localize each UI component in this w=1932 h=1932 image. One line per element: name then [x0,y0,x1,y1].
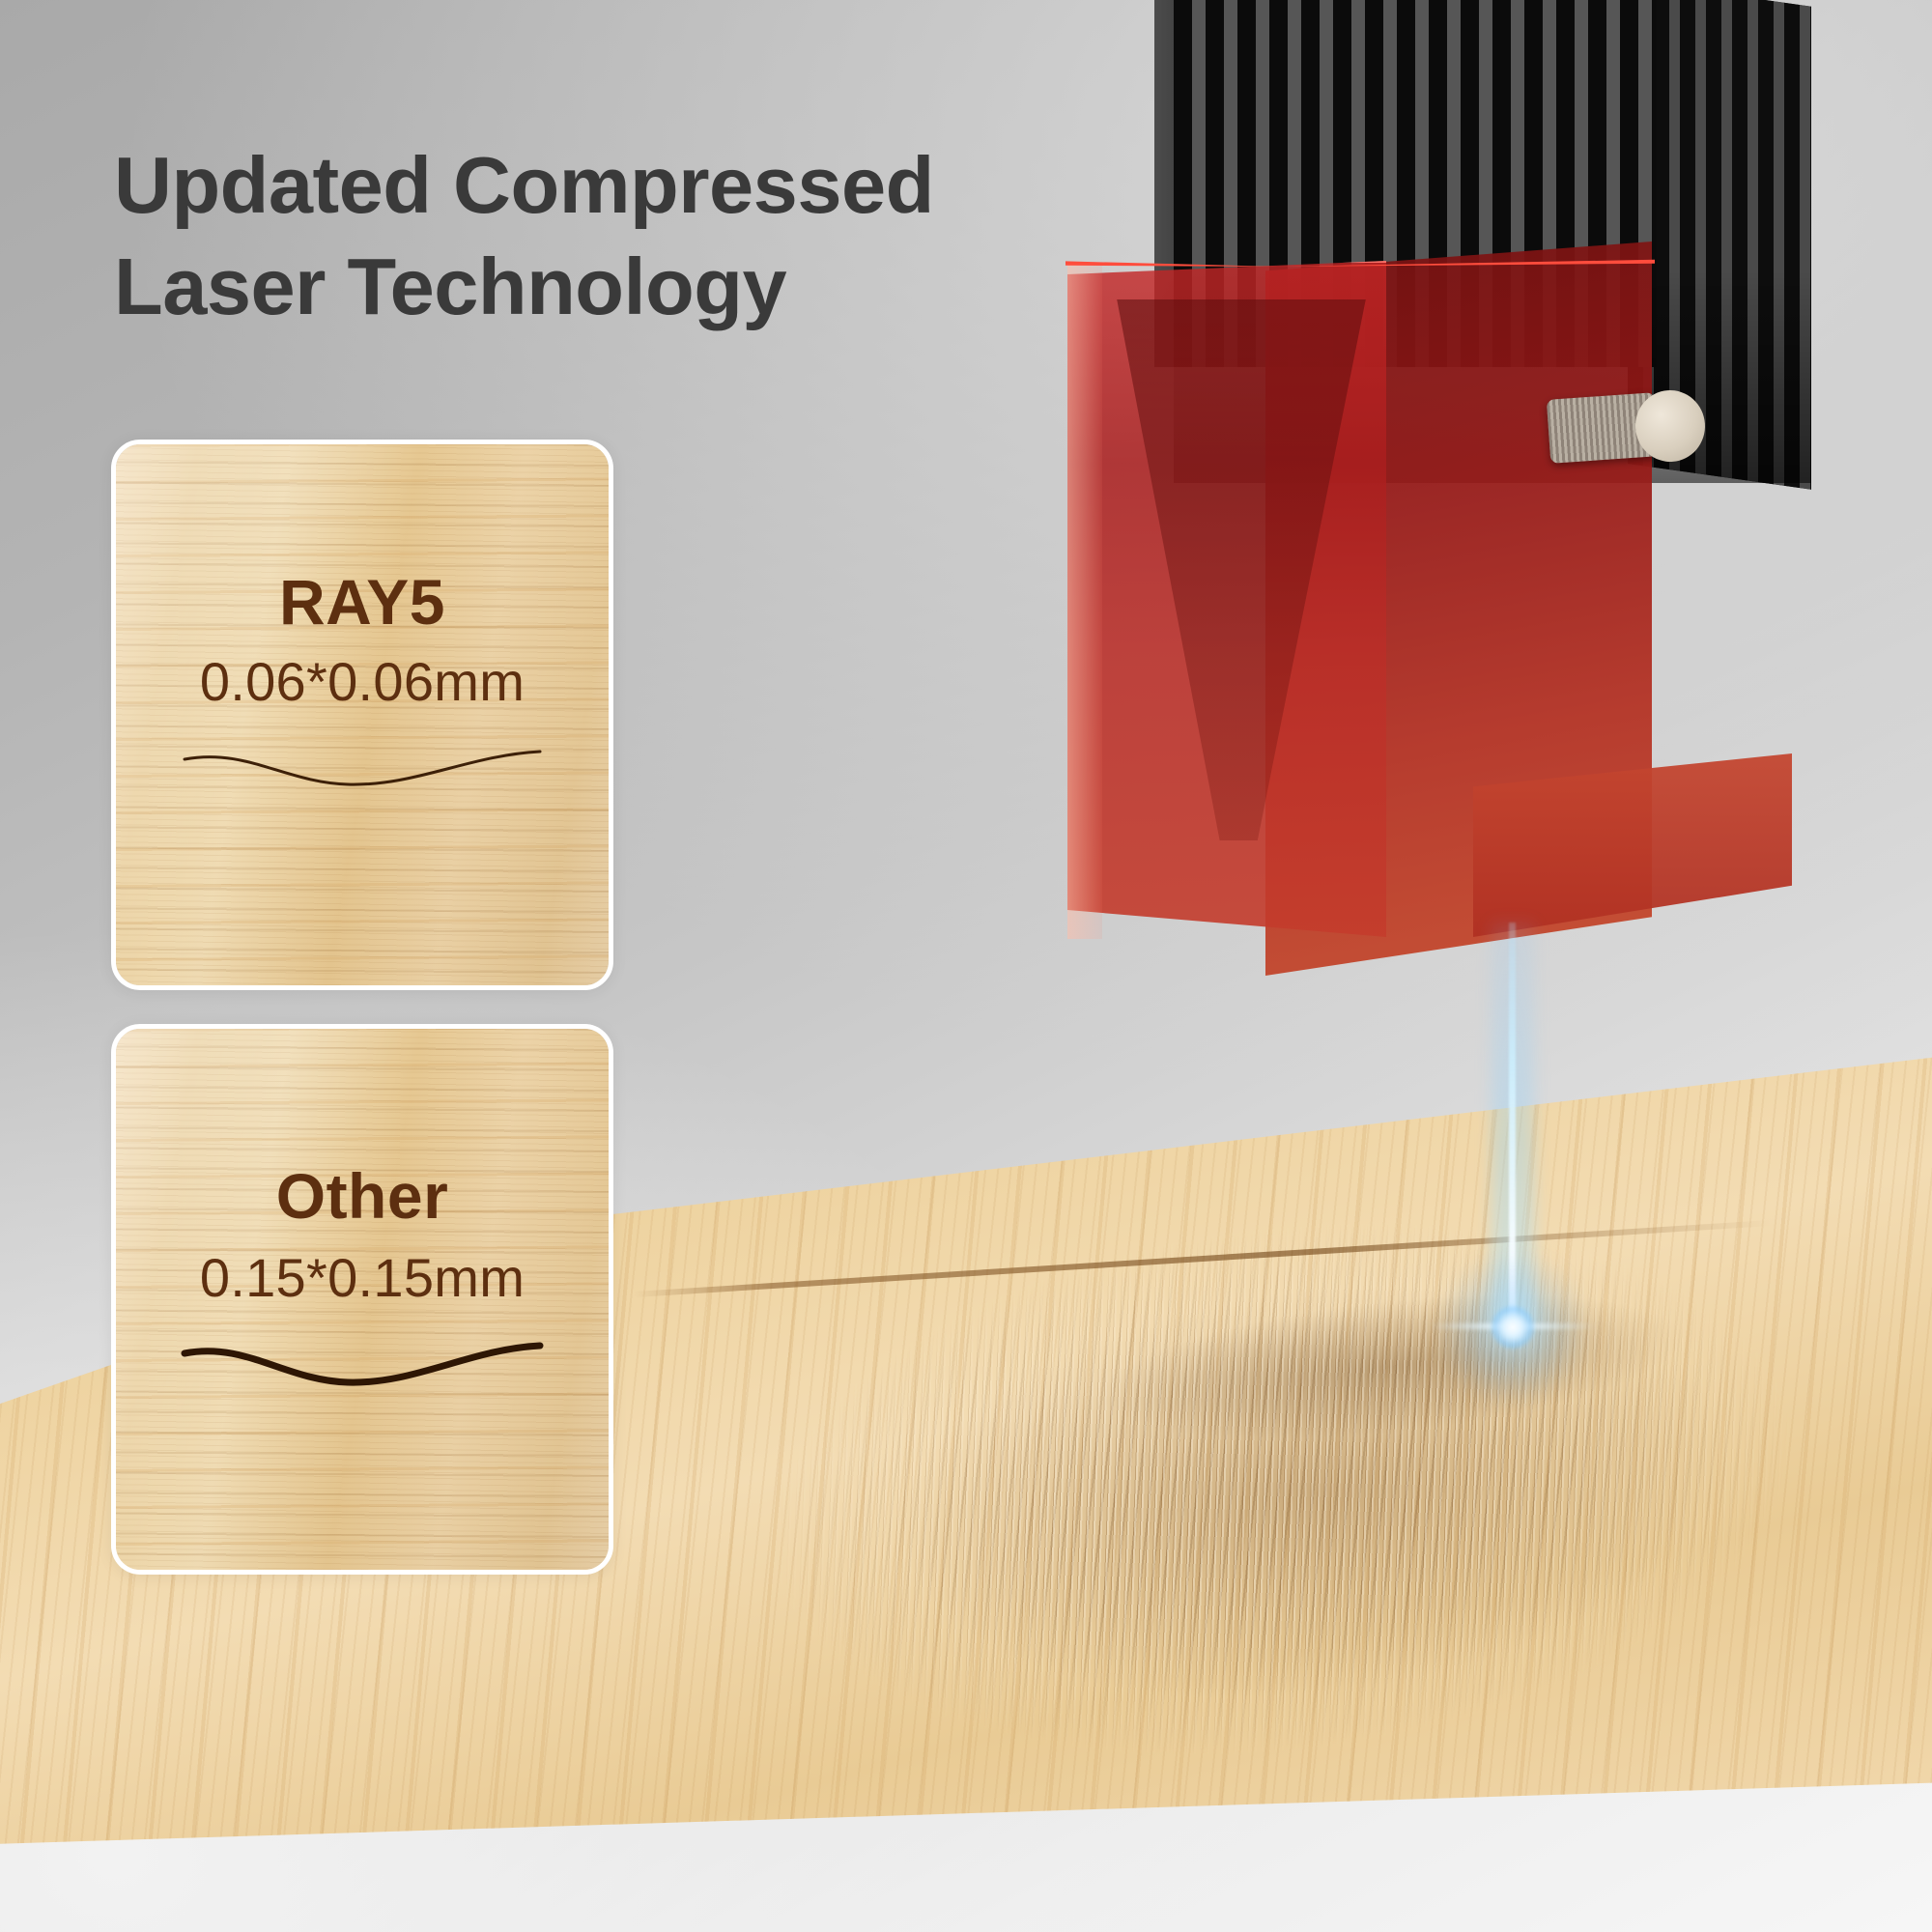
comparison-card-other: Other 0.15*0.15mm [111,1024,613,1575]
fine-engraving-wave-icon [179,740,546,802]
product-marketing-image: Updated Compressed Laser Technology [0,0,1932,1932]
card-spot-size-ray5: 0.06*0.06mm [200,650,525,713]
laser-shield-gloss [1067,263,1102,939]
coarse-engraving-wave-icon [179,1336,546,1398]
page-title: Updated Compressed Laser Technology [114,135,1080,337]
heading-line-1: Updated Compressed [114,140,934,230]
laser-module [1154,0,1850,1256]
comparison-card-ray5: RAY5 0.06*0.06mm [111,440,613,990]
card-title-other: Other [276,1159,449,1233]
card-spot-size-other: 0.15*0.15mm [200,1246,525,1309]
laser-focal-point [1492,1306,1534,1349]
heading-line-2: Laser Technology [114,237,1080,338]
card-title-ray5: RAY5 [279,565,445,639]
